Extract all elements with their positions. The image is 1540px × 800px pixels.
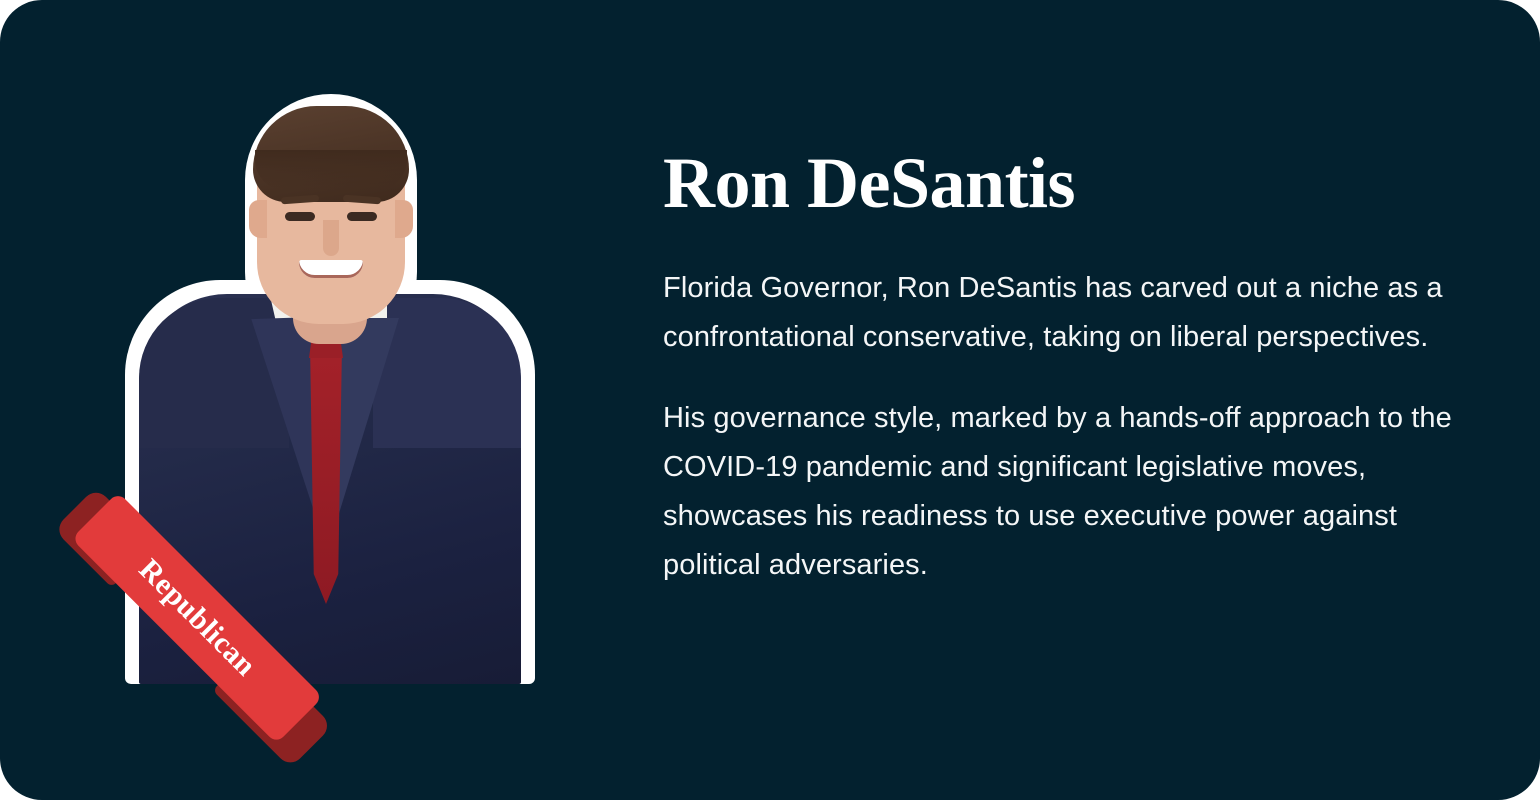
- hair-shadow: [255, 150, 407, 190]
- profile-card: Republican Ron DeSantis Florida Governor…: [0, 0, 1540, 800]
- nose: [323, 220, 339, 256]
- eye-left: [285, 212, 315, 221]
- suit-lapel-right: [333, 318, 399, 533]
- ear-left: [249, 200, 267, 238]
- bio-paragraph-2: His governance style, marked by a hands-…: [663, 394, 1453, 590]
- profile-content: Ron DeSantis Florida Governor, Ron DeSan…: [663, 146, 1453, 590]
- mouth: [299, 260, 363, 278]
- bio-paragraph-1: Florida Governor, Ron DeSantis has carve…: [663, 264, 1453, 362]
- eye-right: [347, 212, 377, 221]
- ear-right: [395, 200, 413, 238]
- page-title: Ron DeSantis: [663, 146, 1453, 222]
